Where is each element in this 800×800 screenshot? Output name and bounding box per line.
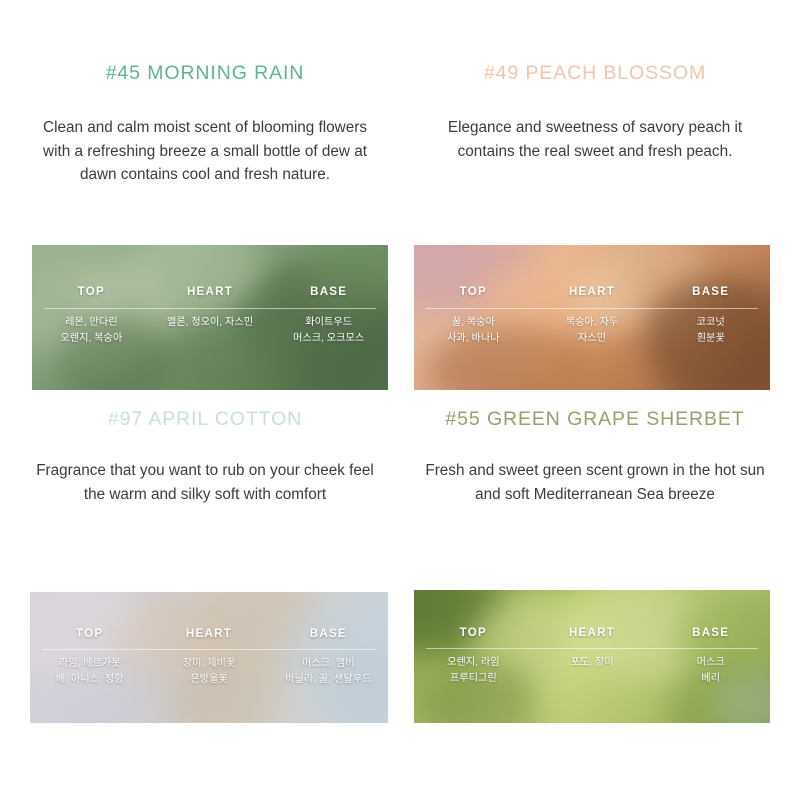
note-label-heart: HEART xyxy=(533,286,652,298)
note-column-top: TOP 오렌지, 라임 프루티그린 xyxy=(414,590,533,687)
note-label-base: BASE xyxy=(651,286,770,298)
fragrance-panel-green-grape-sherbet: #55 GREEN GRAPE SHERBET Fresh and sweet … xyxy=(400,408,790,506)
note-value-heart: 멜론, 청오이, 자스민 xyxy=(151,315,270,331)
note-label-heart: HEART xyxy=(151,286,270,298)
note-column-top: TOP 라임, 베르가못 배, 아니스, 정향 xyxy=(30,592,149,688)
panel-title-morning-rain: #45 MORNING RAIN xyxy=(10,62,400,85)
note-label-top: TOP xyxy=(414,627,533,639)
fragrance-panel-peach-blossom: #49 PEACH BLOSSOM Elegance and sweetness… xyxy=(400,62,790,163)
fragrance-panel-grid: #45 MORNING RAIN Clean and calm moist sc… xyxy=(0,0,800,800)
note-label-heart: HEART xyxy=(149,628,268,640)
note-value-base: 화이트우드 머스크, 오크모스 xyxy=(269,315,388,347)
fragrance-catalog-page: #45 MORNING RAIN Clean and calm moist sc… xyxy=(0,0,800,800)
note-label-heart: HEART xyxy=(533,627,652,639)
note-value-top: 오렌지, 라임 프루티그린 xyxy=(414,655,533,687)
note-pyramid-april-cotton: TOP 라임, 베르가못 배, 아니스, 정향 HEART 장미, 제비꽃 은방… xyxy=(30,592,388,723)
panel-description-april-cotton: Fragrance that you want to rub on your c… xyxy=(10,459,400,506)
panel-title-peach-blossom: #49 PEACH BLOSSOM xyxy=(400,62,790,85)
note-value-base: 머스크, 앰버 바닐라, 꿀, 샌달우드 xyxy=(269,656,388,688)
note-pyramid-green-grape-sherbet: TOP 오렌지, 라임 프루티그린 HEART 포도, 장미 BASE 머스크 … xyxy=(414,590,770,723)
note-pyramid-peach-blossom: TOP 꿀, 복숭아 사과, 바나나 HEART 복숭아, 자두 자스민 BAS… xyxy=(414,245,770,390)
note-pyramid-morning-rain: TOP 레몬, 만다린 오렌지, 복숭아 HEART 멜론, 청오이, 자스민 … xyxy=(32,245,388,390)
note-value-base: 코코넛 흰분꽃 xyxy=(651,315,770,347)
note-column-heart: HEART 복숭아, 자두 자스민 xyxy=(533,245,652,347)
note-column-base: BASE 화이트우드 머스크, 오크모스 xyxy=(269,245,388,347)
note-column-top: TOP 꿀, 복숭아 사과, 바나나 xyxy=(414,245,533,347)
note-label-top: TOP xyxy=(32,286,151,298)
note-column-heart: HEART 장미, 제비꽃 은방울꽃 xyxy=(149,592,268,688)
fragrance-panel-april-cotton: #97 APRIL COTTON Fragrance that you want… xyxy=(10,408,400,506)
note-label-base: BASE xyxy=(269,628,388,640)
note-column-top: TOP 레몬, 만다린 오렌지, 복숭아 xyxy=(32,245,151,347)
note-column-base: BASE 머스크 베리 xyxy=(651,590,770,687)
note-label-top: TOP xyxy=(414,286,533,298)
fragrance-banner-april-cotton: TOP 라임, 베르가못 배, 아니스, 정향 HEART 장미, 제비꽃 은방… xyxy=(30,592,388,723)
note-value-top: 꿀, 복숭아 사과, 바나나 xyxy=(414,315,533,347)
note-label-base: BASE xyxy=(651,627,770,639)
note-column-base: BASE 코코넛 흰분꽃 xyxy=(651,245,770,347)
fragrance-banner-morning-rain: TOP 레몬, 만다린 오렌지, 복숭아 HEART 멜론, 청오이, 자스민 … xyxy=(32,245,388,390)
panel-description-green-grape-sherbet: Fresh and sweet green scent grown in the… xyxy=(400,459,790,506)
note-value-heart: 포도, 장미 xyxy=(533,655,652,671)
note-column-heart: HEART 포도, 장미 xyxy=(533,590,652,671)
fragrance-banner-green-grape-sherbet: TOP 오렌지, 라임 프루티그린 HEART 포도, 장미 BASE 머스크 … xyxy=(414,590,770,723)
note-label-top: TOP xyxy=(30,628,149,640)
note-value-top: 레몬, 만다린 오렌지, 복숭아 xyxy=(32,315,151,347)
fragrance-panel-morning-rain: #45 MORNING RAIN Clean and calm moist sc… xyxy=(10,62,400,186)
panel-description-morning-rain: Clean and calm moist scent of blooming f… xyxy=(10,116,400,186)
panel-title-april-cotton: #97 APRIL COTTON xyxy=(10,408,400,431)
note-value-base: 머스크 베리 xyxy=(651,655,770,687)
fragrance-banner-peach-blossom: TOP 꿀, 복숭아 사과, 바나나 HEART 복숭아, 자두 자스민 BAS… xyxy=(414,245,770,390)
note-value-heart: 복숭아, 자두 자스민 xyxy=(533,315,652,347)
note-label-base: BASE xyxy=(269,286,388,298)
panel-description-peach-blossom: Elegance and sweetness of savory peach i… xyxy=(400,116,790,163)
panel-title-green-grape-sherbet: #55 GREEN GRAPE SHERBET xyxy=(400,408,790,431)
note-column-base: BASE 머스크, 앰버 바닐라, 꿀, 샌달우드 xyxy=(269,592,388,688)
note-value-heart: 장미, 제비꽃 은방울꽃 xyxy=(149,656,268,688)
note-column-heart: HEART 멜론, 청오이, 자스민 xyxy=(151,245,270,331)
note-value-top: 라임, 베르가못 배, 아니스, 정향 xyxy=(30,656,149,688)
